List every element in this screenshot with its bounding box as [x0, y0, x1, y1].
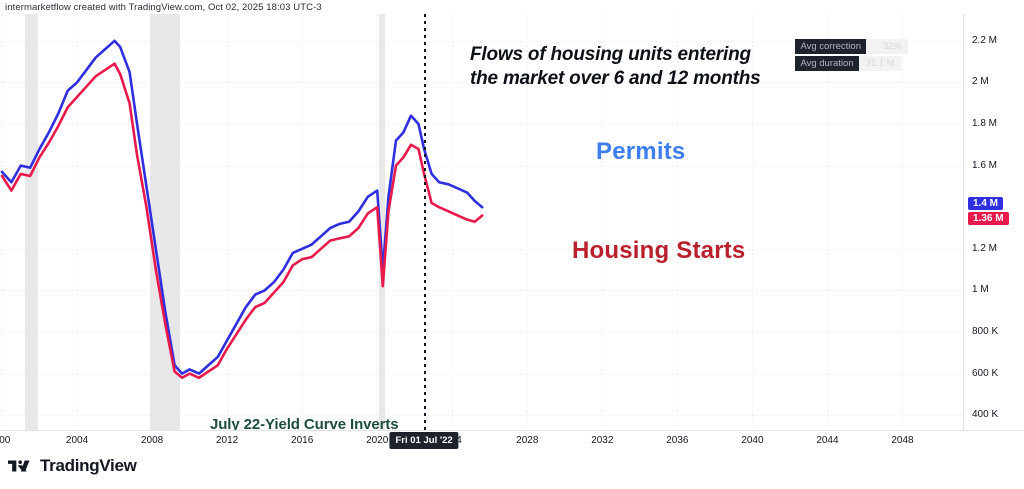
yield-curve-annotation-label: July 22-Yield Curve Inverts: [210, 416, 399, 430]
time-tick-label: 2020: [366, 435, 388, 446]
time-tick-label: 2004: [66, 435, 88, 446]
price-tick-label: 1.2 M: [972, 243, 997, 254]
chart-title-line-1: Flows of housing units entering: [470, 44, 751, 65]
permits-series-label: Permits: [596, 138, 685, 166]
time-tick-label: 000: [0, 435, 10, 446]
price-tick-label: 2 M: [972, 76, 989, 87]
tradingview-footer: TradingView: [8, 456, 137, 476]
tradingview-logo-icon: [8, 458, 33, 474]
time-scale[interactable]: 0002004200820122016202020282032203620402…: [0, 430, 1024, 453]
price-tick-label: 2.2 M: [972, 35, 997, 46]
legend-key: Avg duration: [795, 56, 858, 71]
price-tick-label: 1.6 M: [972, 160, 997, 171]
attribution-text: intermarketflow created with TradingView…: [5, 2, 322, 13]
crosshair-date-badge[interactable]: Fri 01 Jul '22: [390, 432, 459, 449]
permits-last-value[interactable]: 1.4 M: [968, 197, 1003, 210]
legend-row[interactable]: Avg duration31.1 M: [795, 56, 908, 71]
legend-row[interactable]: Avg correction32%: [795, 39, 908, 54]
time-tick-label: 2048: [891, 435, 913, 446]
legend-value: 31.1 M: [859, 56, 901, 71]
chart-title-line-2: the market over 6 and 12 months: [470, 68, 761, 89]
price-tick-label: 800 K: [972, 326, 998, 337]
price-tick-label: 600 K: [972, 368, 998, 379]
time-tick-label: 2040: [741, 435, 763, 446]
price-tick-label: 400 K: [972, 409, 998, 420]
price-scale[interactable]: 2.2 M2 M1.8 M1.6 M1.2 M1 M800 K600 K400 …: [963, 14, 1024, 430]
price-tick-label: 1 M: [972, 284, 989, 295]
legend-key: Avg correction: [795, 39, 866, 54]
time-tick-label: 2028: [516, 435, 538, 446]
series-line-housing-starts: [2, 64, 482, 378]
yield-curve-inversion-line: [424, 14, 426, 430]
starts-last-value[interactable]: 1.36 M: [968, 212, 1009, 225]
time-tick-label: 2032: [591, 435, 613, 446]
legend-value: 32%: [866, 39, 908, 54]
time-tick-label: 2008: [141, 435, 163, 446]
time-tick-label: 2044: [816, 435, 838, 446]
stats-legend-box[interactable]: Avg correction32%Avg duration31.1 M: [795, 39, 908, 71]
time-tick-label: 2016: [291, 435, 313, 446]
tradingview-chart-screenshot: intermarketflow created with TradingView…: [0, 0, 1024, 489]
time-tick-label: 2036: [666, 435, 688, 446]
chart-plot-area[interactable]: Flows of housing units entering the mark…: [0, 14, 963, 430]
time-tick-label: 2012: [216, 435, 238, 446]
price-tick-label: 1.8 M: [972, 118, 997, 129]
tradingview-wordmark: TradingView: [40, 456, 137, 476]
housing-starts-series-label: Housing Starts: [572, 237, 745, 265]
